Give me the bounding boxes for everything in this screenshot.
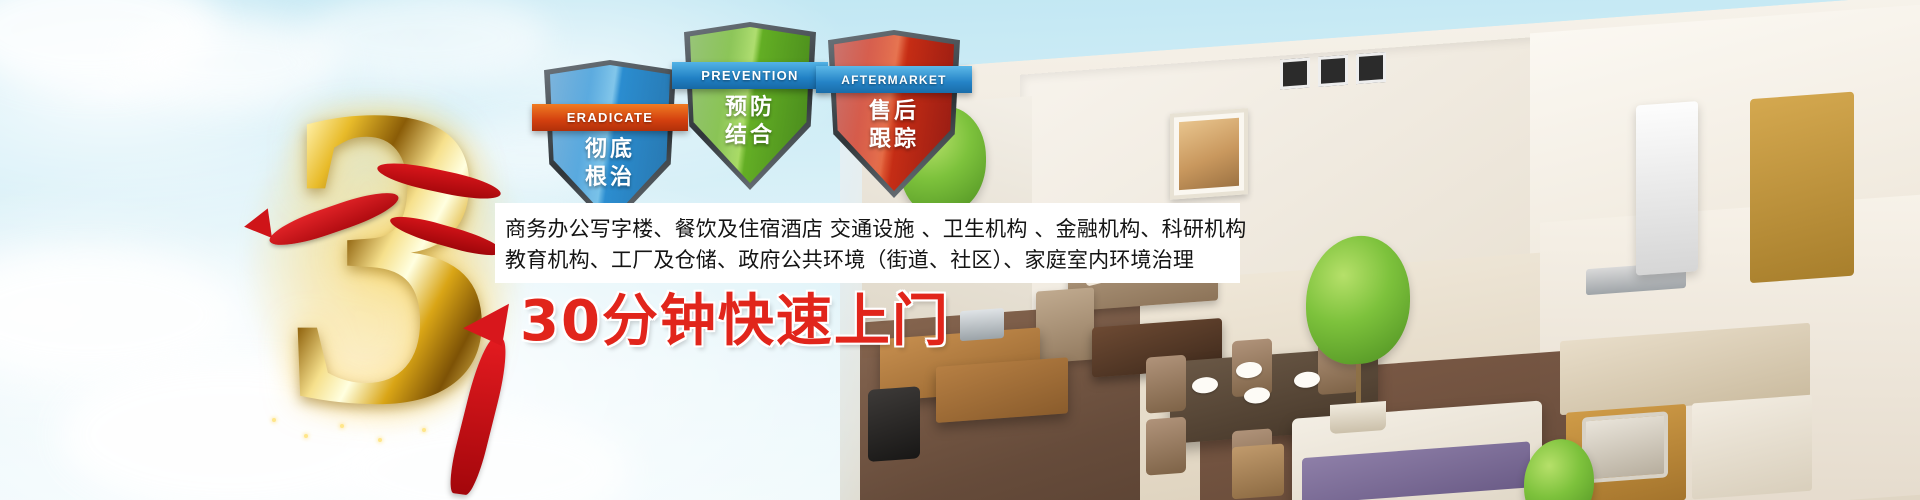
- shield-cn-line1: 预防: [684, 94, 816, 120]
- service-scope-line-1: 商务办公写字楼、餐饮及住宿酒店 交通设施 、卫生机构 、金融机构、科研机构: [505, 214, 1232, 245]
- headline-text: 30分钟快速上门: [520, 291, 950, 353]
- shield-cn-line2: 跟踪: [828, 126, 960, 152]
- shield-banner-label: PREVENTION: [672, 62, 828, 89]
- shield-prevention: PREVENTION 预防 结合: [684, 22, 816, 190]
- shield-cn-line2: 根治: [544, 164, 676, 190]
- shield-cn-line2: 结合: [684, 122, 816, 148]
- shield-cn-line1: 彻底: [544, 136, 676, 162]
- potted-plant: [1524, 437, 1594, 500]
- shield-cn-line1: 售后: [828, 98, 960, 124]
- golden-number-graphic: 3: [236, 88, 536, 448]
- shield-banner-label: AFTERMARKET: [816, 66, 972, 93]
- wall-art-frame: [1170, 108, 1248, 200]
- promo-banner: ERADICATE 彻底 根治 PREVENTION 预防 结合 AFTERMA…: [0, 0, 1920, 500]
- service-scope-panel: 商务办公写字楼、餐饮及住宿酒店 交通设施 、卫生机构 、金融机构、科研机构 教育…: [495, 203, 1240, 283]
- red-ribbon-tail: [242, 208, 272, 241]
- potted-plant: [1306, 232, 1410, 418]
- service-scope-line-2: 教育机构、工厂及仓储、政府公共环境（街道、社区）、家庭室内环境治理: [505, 245, 1232, 276]
- shield-banner-label: ERADICATE: [532, 104, 688, 131]
- shield-aftermarket: AFTERMARKET 售后 跟踪: [828, 30, 960, 198]
